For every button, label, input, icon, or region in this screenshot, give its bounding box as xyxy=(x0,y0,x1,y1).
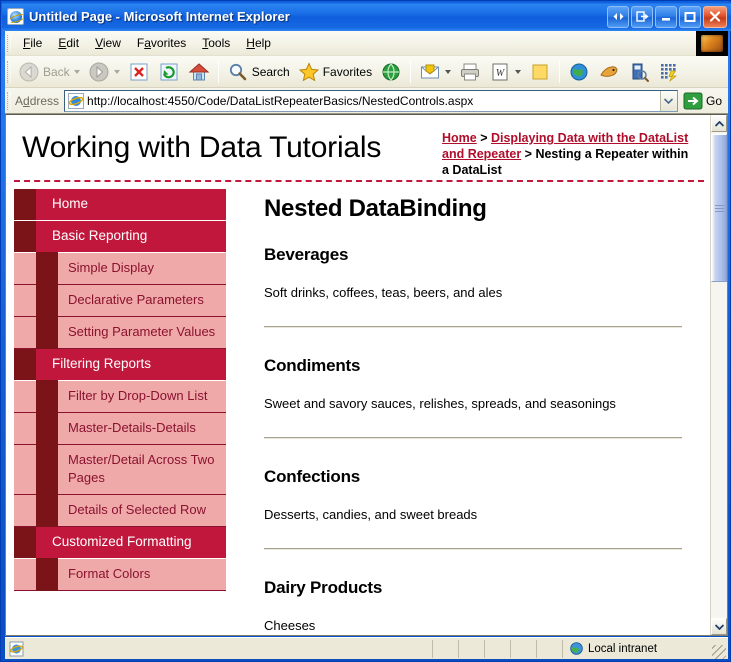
category-item: Confections Desserts, candies, and sweet… xyxy=(264,467,692,522)
sidebar-item-label: Simple Display xyxy=(68,260,154,275)
category-description: Sweet and savory sauces, relishes, sprea… xyxy=(264,396,692,411)
sidebar-item-home[interactable]: Home xyxy=(14,189,226,221)
messenger-button[interactable] xyxy=(594,59,624,85)
print-button[interactable] xyxy=(455,59,485,85)
scroll-thumb[interactable] xyxy=(711,134,727,282)
search-label: Search xyxy=(252,65,290,79)
sidebar-nav: Home Basic Reporting Simple Display Decl… xyxy=(14,189,226,591)
address-dropdown-button[interactable] xyxy=(660,91,677,111)
breadcrumb-link-home[interactable]: Home xyxy=(442,131,477,145)
sidebar-item-label: Setting Parameter Values xyxy=(68,324,215,339)
go-arrow-icon xyxy=(683,91,703,111)
browser-window: Untitled Page - Microsoft Internet Explo… xyxy=(0,0,731,662)
chevron-down-icon xyxy=(664,98,673,104)
scroll-thumb-grip xyxy=(715,205,724,212)
sidebar-item-label: Customized Formatting xyxy=(52,534,192,549)
addressbar-grip[interactable] xyxy=(7,92,11,110)
word-document-icon: W xyxy=(489,61,511,83)
category-name: Condiments xyxy=(264,356,692,376)
address-label: Address xyxy=(15,94,59,108)
encarta-icon xyxy=(658,61,680,83)
breadcrumb-sep-2: > xyxy=(521,147,535,161)
breadcrumb-sep-1: > xyxy=(477,131,491,145)
toolbar: Back xyxy=(5,56,728,88)
stop-button[interactable] xyxy=(124,59,154,85)
globe-icon xyxy=(569,641,584,656)
ie-page-status-icon xyxy=(9,641,25,657)
toolbar-separator-2 xyxy=(410,61,411,83)
globe-button[interactable] xyxy=(564,59,594,85)
sidebar-item-label: Declarative Parameters xyxy=(68,292,204,307)
status-segment xyxy=(510,640,536,658)
edit-word-button[interactable]: W xyxy=(485,59,525,85)
sidebar-item-basic-reporting[interactable]: Basic Reporting xyxy=(14,221,226,253)
category-description: Desserts, candies, and sweet breads xyxy=(264,507,692,522)
refresh-icon xyxy=(158,61,180,83)
sidebar-item-filter-by-drop-down-list[interactable]: Filter by Drop-Down List xyxy=(14,381,226,413)
back-arrow-icon xyxy=(18,61,40,83)
star-icon xyxy=(298,61,320,83)
sidebar-item-format-colors[interactable]: Format Colors xyxy=(14,559,226,591)
category-name: Confections xyxy=(264,467,692,487)
sidebar-item-details-of-selected-row[interactable]: Details of Selected Row xyxy=(14,495,226,527)
page-viewport: Working with Data Tutorials Home > Displ… xyxy=(5,114,728,636)
edit-dropdown-caret[interactable] xyxy=(515,70,521,74)
address-bar: Address http://localhost:4550/Code/DataL… xyxy=(5,88,728,114)
category-divider xyxy=(264,548,682,550)
sidebar-item-label: Master/Detail Across Two Pages xyxy=(68,452,214,485)
toolbar-separator-3 xyxy=(559,61,560,83)
chevron-down-icon xyxy=(715,624,724,630)
media-globe-icon xyxy=(380,61,402,83)
sidebar-item-label: Filtering Reports xyxy=(52,356,151,371)
mail-dropdown-caret[interactable] xyxy=(445,70,451,74)
note-icon xyxy=(529,61,551,83)
research-book-icon xyxy=(628,61,650,83)
mail-icon xyxy=(419,61,441,83)
ie-restore-button[interactable] xyxy=(631,6,653,28)
refresh-button[interactable] xyxy=(154,59,184,85)
sidebar-item-filtering-reports[interactable]: Filtering Reports xyxy=(14,349,226,381)
sidebar-item-label: Master-Details-Details xyxy=(68,420,196,435)
menu-favorites[interactable]: Favorites xyxy=(129,33,194,54)
status-segment xyxy=(536,640,562,658)
sidebar-item-customized-formatting[interactable]: Customized Formatting xyxy=(14,527,226,559)
security-zone[interactable]: Local intranet xyxy=(562,640,712,658)
menubar-grip[interactable] xyxy=(7,35,11,52)
sidebar-item-declarative-parameters[interactable]: Declarative Parameters xyxy=(14,285,226,317)
media-button[interactable] xyxy=(376,59,406,85)
category-item: Beverages Soft drinks, coffees, teas, be… xyxy=(264,245,692,300)
forward-arrow-icon xyxy=(88,61,110,83)
status-bar: Local intranet xyxy=(5,637,728,659)
sidebar-item-simple-display[interactable]: Simple Display xyxy=(14,253,226,285)
web-page: Working with Data Tutorials Home > Displ… xyxy=(6,115,712,635)
menu-tools[interactable]: Tools xyxy=(194,33,238,54)
window-title: Untitled Page - Microsoft Internet Explo… xyxy=(29,9,290,24)
menu-bar: File Edit View Favorites Tools Help xyxy=(5,31,728,56)
category-description: Soft drinks, coffees, teas, beers, and a… xyxy=(264,285,692,300)
site-header: Working with Data Tutorials Home > Displ… xyxy=(14,115,704,182)
category-name: Dairy Products xyxy=(264,578,692,598)
home-icon xyxy=(188,61,210,83)
back-button[interactable]: Back xyxy=(14,59,84,85)
window-buttons xyxy=(607,6,727,28)
messenger-icon xyxy=(598,61,620,83)
category-description: Cheeses xyxy=(264,618,692,633)
stop-icon xyxy=(128,61,150,83)
ie-page-icon xyxy=(7,8,24,25)
menu-help[interactable]: Help xyxy=(238,33,279,54)
back-label: Back xyxy=(43,65,70,79)
sidebar-item-master-details-details[interactable]: Master-Details-Details xyxy=(14,413,226,445)
forward-dropdown-caret[interactable] xyxy=(114,70,120,74)
resize-grip[interactable] xyxy=(712,645,726,659)
content-heading: Nested DataBinding xyxy=(264,195,692,223)
sidebar-item-label: Home xyxy=(52,196,88,211)
search-icon xyxy=(227,61,249,83)
status-message xyxy=(28,640,432,658)
close-button[interactable] xyxy=(703,6,727,28)
title-bar: Untitled Page - Microsoft Internet Explo… xyxy=(2,2,731,31)
maximize-button[interactable] xyxy=(679,6,701,28)
restore-group-button[interactable] xyxy=(607,6,629,28)
sidebar-item-label: Details of Selected Row xyxy=(68,502,206,517)
address-input[interactable]: http://localhost:4550/Code/DataListRepea… xyxy=(64,90,678,112)
sidebar-item-label: Format Colors xyxy=(68,566,150,581)
globe-icon xyxy=(568,61,590,83)
toolbar-separator-1 xyxy=(218,61,219,83)
notes-button[interactable] xyxy=(525,59,555,85)
favorites-button[interactable]: Favorites xyxy=(294,59,376,85)
category-item: Dairy Products Cheeses xyxy=(264,578,692,633)
scroll-up-button[interactable] xyxy=(711,115,727,132)
favorites-label: Favorites xyxy=(323,65,372,79)
forward-button[interactable] xyxy=(84,59,124,85)
category-item: Condiments Sweet and savory sauces, reli… xyxy=(264,356,692,411)
main-content: Nested DataBinding Beverages Soft drinks… xyxy=(252,189,692,635)
address-url-text: http://localhost:4550/Code/DataListRepea… xyxy=(87,94,473,108)
search-button[interactable]: Search xyxy=(223,59,294,85)
printer-icon xyxy=(459,61,481,83)
security-zone-label: Local intranet xyxy=(588,643,657,655)
sidebar-item-label: Filter by Drop-Down List xyxy=(68,388,207,403)
mail-button[interactable] xyxy=(415,59,455,85)
menu-view[interactable]: View xyxy=(87,33,129,54)
category-divider xyxy=(264,437,682,439)
go-label: Go xyxy=(706,94,722,108)
go-button[interactable]: Go xyxy=(683,91,722,111)
status-segment xyxy=(432,640,458,658)
status-segment xyxy=(458,640,484,658)
sidebar-item-label: Basic Reporting xyxy=(52,228,147,243)
ie-favicon-icon xyxy=(68,93,84,109)
home-button[interactable] xyxy=(184,59,214,85)
scroll-down-button[interactable] xyxy=(711,618,727,635)
category-divider xyxy=(264,326,682,328)
page-title: Working with Data Tutorials xyxy=(22,131,381,165)
minimize-button[interactable] xyxy=(655,6,677,28)
menu-edit[interactable]: Edit xyxy=(50,33,87,54)
research-button[interactable] xyxy=(624,59,654,85)
vertical-scrollbar[interactable] xyxy=(710,115,727,635)
category-name: Beverages xyxy=(264,245,692,265)
sidebar-item-setting-parameter-values[interactable]: Setting Parameter Values xyxy=(14,317,226,349)
back-dropdown-caret[interactable] xyxy=(74,70,80,74)
windows-flag-logo xyxy=(696,31,728,56)
toolbar-grip[interactable] xyxy=(7,61,11,83)
breadcrumb: Home > Displaying Data with the DataList… xyxy=(442,130,704,178)
status-segment xyxy=(484,640,510,658)
chevron-up-icon xyxy=(715,121,724,127)
menu-file[interactable]: File xyxy=(15,33,50,54)
sidebar-item-master-detail-across-two-pages[interactable]: Master/Detail Across Two Pages xyxy=(14,445,226,495)
encarta-button[interactable] xyxy=(654,59,684,85)
